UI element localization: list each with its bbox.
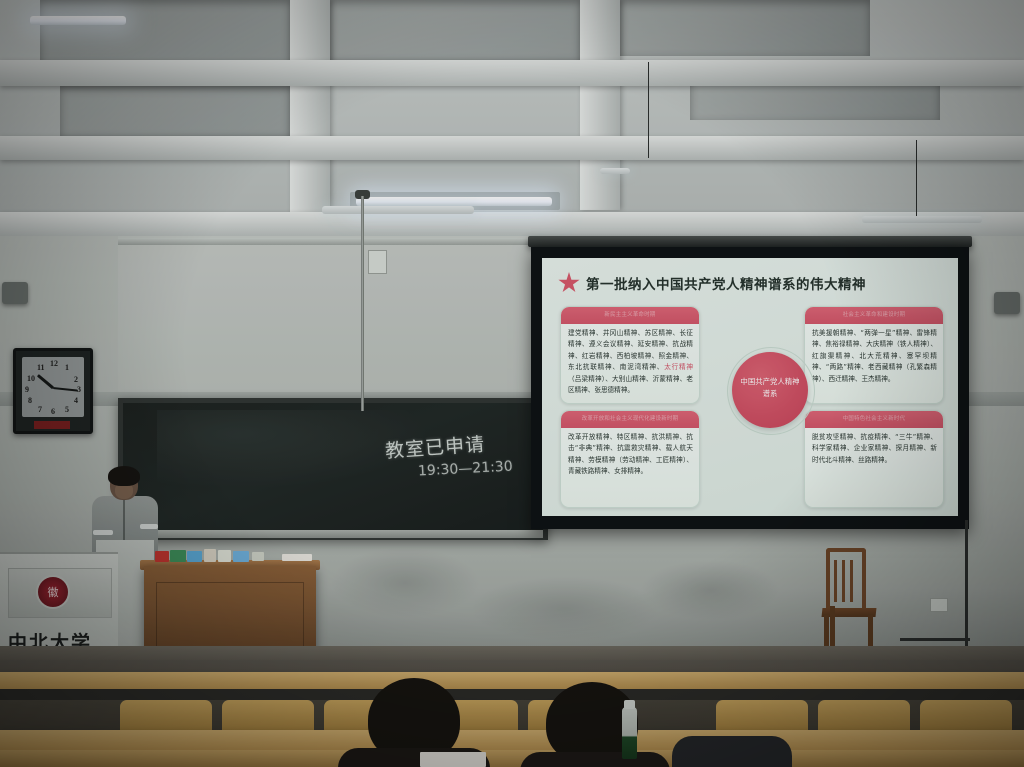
presentation-slide: 第一批纳入中国共产党人精神谱系的伟大精神 新民主主义革命时期 建党精神、井冈山精… [542,258,958,516]
card-header-1: 新民主主义革命时期 [561,307,699,324]
presenter-jacket-stripe-left [93,530,113,535]
clock-face: 12 1 2 3 4 5 6 7 8 9 10 11 [22,357,84,417]
card-header-label-1: 新民主主义革命时期 [561,310,699,318]
desk-item-book-1 [155,551,169,562]
projector-screen-housing [528,236,972,247]
chair-backrest [826,548,866,614]
ceiling-beam-vertical-2 [580,0,620,210]
clock-numeral-1: 1 [65,363,69,372]
card-header-2: 社会主义革命和建设时期 [805,307,943,324]
desk-row-1-shadow [0,689,1024,700]
bench-6 [716,700,808,730]
center-circle: 中国共产党人精神谱系 [732,352,808,428]
student-shoulders-right [520,752,670,767]
clock-numeral-12: 12 [50,359,58,368]
slide-card-period-3: 改革开放和社会主义现代化建设新时期 改革开放精神、特区精神、抗洪精神、抗击“非典… [560,410,700,508]
chair-slat-2 [842,560,845,602]
wall-scuff-2 [470,576,660,642]
wall-speaker-right [994,292,1020,314]
clock-numeral-9: 9 [25,385,29,394]
center-circle-label: 中国共产党人精神谱系 [732,376,808,399]
ceiling-coffer-3 [620,0,870,56]
card-header-3: 改革开放和社会主义现代化建设新时期 [561,411,699,428]
ceiling-light-tube-5 [862,216,982,223]
clock-numeral-11: 11 [37,363,45,372]
slide-card-period-4: 中国特色社会主义新时代 脱贫攻坚精神、抗疫精神、“三牛”精神、科学家精神、企业家… [804,410,944,508]
university-emblem: 徽 [36,575,70,609]
student-desk-row-2-front [0,750,1024,767]
microphone-stand [361,196,364,411]
desk-item-book-7 [252,552,264,561]
card-text-1-highlight: 太行精神 [664,363,693,371]
red-star-icon [558,272,580,294]
classroom-photo: 12 1 2 3 4 5 6 7 8 9 10 11 教室已申请 19:30—2… [0,0,1024,767]
bench-2 [222,700,314,730]
emblem-char: 徽 [38,584,68,600]
clock-numeral-8: 8 [28,396,32,405]
wall-scuff-3 [640,560,780,620]
wall-clock: 12 1 2 3 4 5 6 7 8 9 10 11 [13,348,93,434]
card-body-1: 建党精神、井冈山精神、苏区精神、长征精神、遵义会议精神、延安精神、抗战精神、红岩… [568,328,693,396]
slide-card-period-2: 社会主义革命和建设时期 抗美援朝精神、“两弹一星”精神、雷锋精神、焦裕禄精神、大… [804,306,944,404]
ceiling-beam-horizontal-2 [0,136,1024,160]
projector-screen: 第一批纳入中国共产党人精神谱系的伟大精神 新民主主义革命时期 建党精神、井冈山精… [531,247,969,529]
ceiling-wire-2 [916,140,917,216]
water-bottle-cap [624,700,635,709]
ceiling-coffer-2 [330,0,580,60]
student-desk-row-1 [0,672,1024,689]
wall-cable-1 [965,520,968,650]
ceiling-light-tube-6 [600,168,630,174]
clock-numeral-4: 4 [74,396,78,405]
card-header-label-3: 改革开放和社会主义现代化建设新时期 [561,414,699,422]
student-desk-row-2 [0,730,1024,750]
blackboard: 教室已申请 19:30—21:30 [118,398,548,540]
student-jacket-far-right [672,736,792,767]
ceiling-coffer-1 [40,0,290,66]
card-header-4: 中国特色社会主义新时代 [805,411,943,428]
chalk-tray [113,530,543,538]
ceiling-coffer-4 [60,86,290,136]
notebook-on-desk [420,752,486,767]
card-text-1b: （吕梁精神）、大别山精神、沂蒙精神、老区精神、张思德精神。 [568,375,693,394]
ceiling-light-tube-1 [30,16,126,25]
bench-1 [120,700,212,730]
presenter-hair [108,466,140,486]
wall-cable-2 [900,638,970,641]
card-header-label-2: 社会主义革命和建设时期 [805,310,943,318]
clock-numeral-7: 7 [38,405,42,414]
wall-switch-box [368,250,387,274]
ceiling-wire-1 [648,62,649,158]
slide-card-period-1: 新民主主义革命时期 建党精神、井冈山精神、苏区精神、长征精神、遵义会议精神、延安… [560,306,700,404]
clock-numeral-2: 2 [74,375,78,384]
ceiling-light-tube-3 [356,197,552,206]
clock-minute-hand [53,387,78,392]
desk-item-book-2 [170,550,186,562]
clock-base-plate [34,421,70,429]
desk-item-paper [282,554,312,561]
slide-title: 第一批纳入中国共产党人精神谱系的伟大精神 [586,273,866,293]
chair-slat-1 [834,560,837,602]
lectern-front-panel [156,582,304,650]
clock-numeral-6: 6 [51,407,55,416]
wall-scuff-1 [330,548,480,618]
desk-item-book-5 [218,550,231,562]
ceiling-beam-horizontal-1 [0,60,1024,86]
desk-item-book-6 [233,551,249,562]
card-body-4: 脱贫攻坚精神、抗疫精神、“三牛”精神、科学家精神、企业家精神、探月精神、新时代北… [812,432,937,466]
water-bottle [622,707,637,759]
bench-7 [818,700,910,730]
desk-item-book-4 [204,549,216,562]
card-header-label-4: 中国特色社会主义新时代 [805,414,943,422]
card-body-3: 改革开放精神、特区精神、抗洪精神、抗击“非典”精神、抗震救灾精神、载人航天精神、… [568,432,693,478]
clock-numeral-10: 10 [27,374,35,383]
clock-numeral-5: 5 [65,405,69,414]
wall-power-outlet [930,598,948,612]
ceiling-light-tube-4 [322,206,474,214]
bench-8 [920,700,1012,730]
wall-speaker-left [2,282,28,304]
clock-hour-hand [37,374,54,389]
desk-item-book-3 [187,551,202,562]
chair-slat-3 [850,560,853,602]
presenter-jacket-stripe-right [140,524,158,529]
card-body-2: 抗美援朝精神、“两弹一星”精神、雷锋精神、焦裕禄精神、大庆精神（铁人精神）、红旗… [812,328,937,385]
